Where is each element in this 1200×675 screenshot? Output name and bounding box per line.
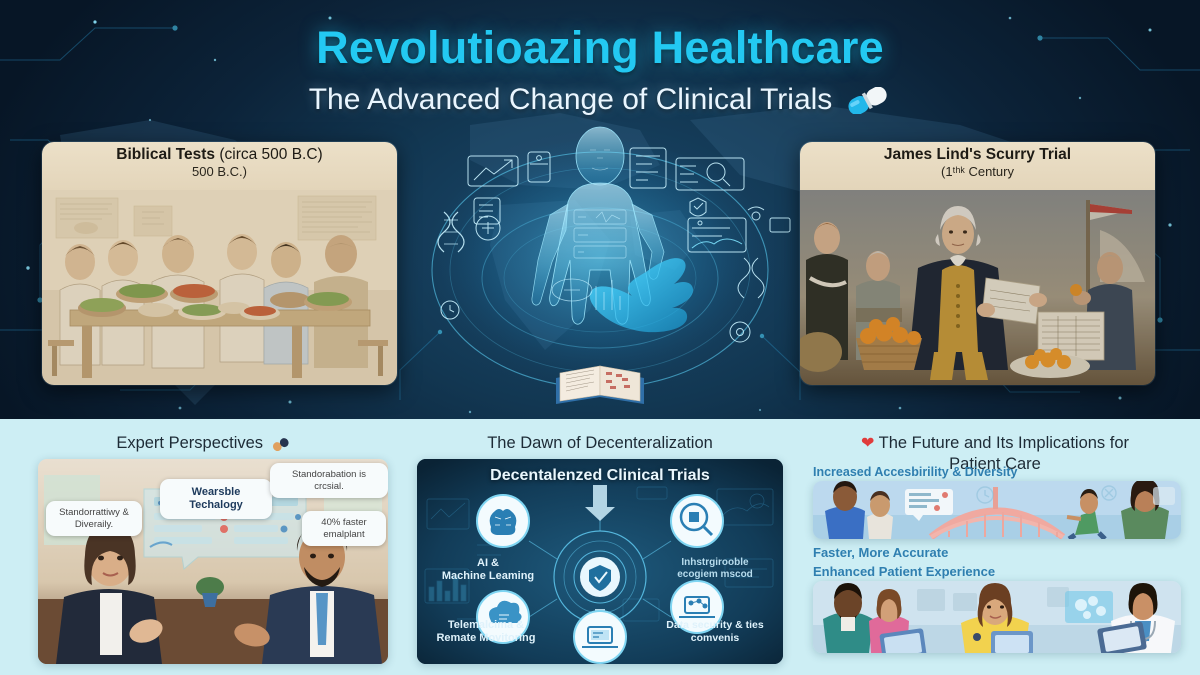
card-title-line2: (1ᵗʰᵏ Century <box>800 164 1155 180</box>
column-future-patient-care: ❤ The Future and Its Implications for Pa… <box>795 419 1195 475</box>
speech-bubble: 40% faster emalplant <box>302 511 386 546</box>
history-card-james-lind[interactable]: James Lind's Scurry Trial (1ᵗʰᵏ Century <box>800 142 1155 385</box>
speech-bubble: Standorabation is crcsial. <box>270 463 388 498</box>
sub-label-accessibility: Increased Accesbirility & Diversity <box>813 465 1018 479</box>
column-heading-text: Expert Perspectives <box>116 434 263 452</box>
speech-bubble-text: Wearsble Techalogy <box>167 486 265 512</box>
page-subtitle: The Advanced Change of Clinical Trials <box>309 83 833 117</box>
heart-icon: ❤ <box>861 435 874 452</box>
future-panel-top[interactable] <box>813 481 1181 539</box>
speech-bubble-text: Standorabation is crcsial. <box>277 469 381 492</box>
page-title: Revolutioazing Healthcare <box>0 22 1200 74</box>
column-expert-perspectives: Expert Perspectives <box>10 419 400 454</box>
capsule-pill-icon <box>845 87 891 114</box>
node-label-ai: AI & Machine Leaming <box>433 557 543 583</box>
sub-label-faster: Faster, More Accurate <box>813 545 948 560</box>
decentralized-trials-panel[interactable]: Decentalenzed Clinical Trials AI & Machi… <box>417 459 783 664</box>
history-card-header: Biblical Tests (circa 500 B.C) 500 B.C.) <box>42 142 397 190</box>
poster-header: Revolutioazing Healthcare The Advanced C… <box>0 22 1200 117</box>
card-title-bold: Biblical Tests <box>116 146 215 163</box>
column-decentralization: The Dawn of Decenteralization <box>405 419 795 454</box>
card-title-bold: James Lind's Scurry Trial <box>884 146 1071 163</box>
card-title-line2: 500 B.C.) <box>42 164 397 180</box>
card-title-light: (circa 500 B.C) <box>219 146 322 163</box>
sub-label-experience: Enhanced Patient Experience <box>813 564 995 579</box>
node-label-data-security: Data security & ties comvenis <box>655 619 775 644</box>
column-heading-text: The Dawn of Decenteralization <box>487 434 713 452</box>
james-lind-painting <box>800 190 1155 385</box>
top-hero-section: Revolutioazing Healthcare The Advanced C… <box>0 0 1200 419</box>
future-panel-bottom[interactable] <box>813 581 1181 653</box>
biblical-scene-illustration <box>42 190 397 385</box>
speech-bubble: Wearsble Techalogy <box>160 479 272 519</box>
speech-bubble-text: 40% faster emalplant <box>309 517 379 540</box>
history-card-biblical[interactable]: Biblical Tests (circa 500 B.C) 500 B.C.) <box>42 142 397 385</box>
node-label-interoperable: Inhstrgirooble ecogiem mscod <box>657 557 773 581</box>
infographic-poster: Revolutioazing Healthcare The Advanced C… <box>0 0 1200 675</box>
panel-title: Decentalenzed Clinical Trials <box>417 467 783 485</box>
column-heading: Expert Perspectives <box>10 419 400 454</box>
expert-panel-image[interactable]: Standorrattiwy & Diveraily. Wearsble Tec… <box>38 459 388 664</box>
holographic-hero-graphic <box>400 120 800 410</box>
history-card-header: James Lind's Scurry Trial (1ᵗʰᵏ Century <box>800 142 1155 190</box>
speech-bubble-text: Standorrattiwy & Diveraily. <box>53 507 135 530</box>
node-label-telemedicine: Telemalcima & Remate Movitoring <box>427 619 545 645</box>
speech-bubble: Standorrattiwy & Diveraily. <box>46 501 142 536</box>
bottom-content-section: Expert Perspectives <box>0 419 1200 675</box>
column-heading-text: The Future and Its Implications for <box>879 434 1129 452</box>
column-heading: The Dawn of Decenteralization <box>405 419 795 454</box>
pill-icon <box>272 438 290 451</box>
